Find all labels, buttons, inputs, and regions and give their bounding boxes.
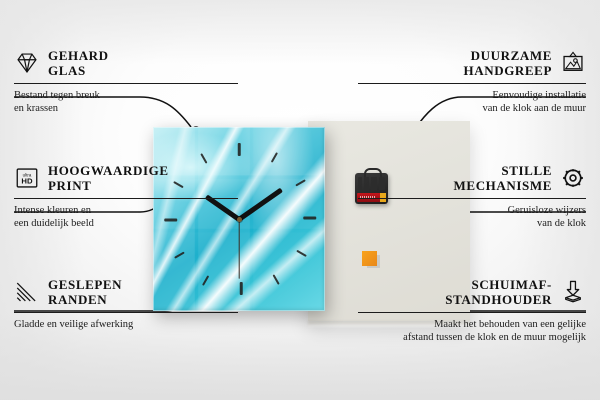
divider	[358, 198, 586, 199]
callout-title: GESLEPENRANDEN	[48, 277, 122, 308]
callout-description: Gladde en veilige afwerking	[14, 318, 238, 331]
picture-frame-icon	[560, 51, 586, 75]
ultra-hd-icon: ultraHD	[14, 166, 40, 190]
down-arrow-pad-icon	[560, 280, 586, 304]
callout-geslepen-randen: GESLEPENRANDEN Gladde en veilige afwerki…	[14, 277, 238, 331]
callout-title: SCHUIMAF-STANDHOUDER	[445, 277, 552, 308]
gear-icon	[560, 166, 586, 190]
callout-title: GEHARDGLAS	[48, 48, 109, 79]
callout-title: DUURZAMEHANDGREEP	[464, 48, 552, 79]
divider	[14, 83, 238, 84]
callout-description: Eenvoudige installatievan de klok aan de…	[358, 89, 586, 116]
divider	[358, 83, 586, 84]
divider	[358, 312, 586, 313]
product-feature-infographic: GEHARDGLAS Bestand tegen breuken krassen…	[0, 0, 600, 400]
svg-text:HD: HD	[21, 177, 33, 186]
callout-gehard-glas: GEHARDGLAS Bestand tegen breuken krassen	[14, 48, 238, 116]
callout-schuimafstandhouder: SCHUIMAF-STANDHOUDER Maakt het behouden …	[358, 277, 586, 345]
callout-duurzame-handgreep: DUURZAMEHANDGREEP Eenvoudige installatie…	[358, 48, 586, 116]
divider	[14, 312, 238, 313]
callout-stille-mechanisme: STILLEMECHANISME Geruisloze wijzersvan d…	[358, 163, 586, 231]
diamond-icon	[14, 51, 40, 75]
foam-spacer-pad	[362, 251, 377, 266]
divider	[14, 198, 238, 199]
beveled-edges-icon	[14, 280, 40, 304]
callout-title: HOOGWAARDIGEPRINT	[48, 163, 169, 194]
callout-title: STILLEMECHANISME	[454, 163, 552, 194]
callout-description: Intense kleuren eneen duidelijk beeld	[14, 204, 238, 231]
callout-description: Maakt het behouden van een gelijkeafstan…	[358, 318, 586, 345]
callout-description: Bestand tegen breuken krassen	[14, 89, 238, 116]
callout-hoogwaardige-print: ultraHD HOOGWAARDIGEPRINT Intense kleure…	[14, 163, 238, 231]
callout-description: Geruisloze wijzersvan de klok	[358, 204, 586, 231]
